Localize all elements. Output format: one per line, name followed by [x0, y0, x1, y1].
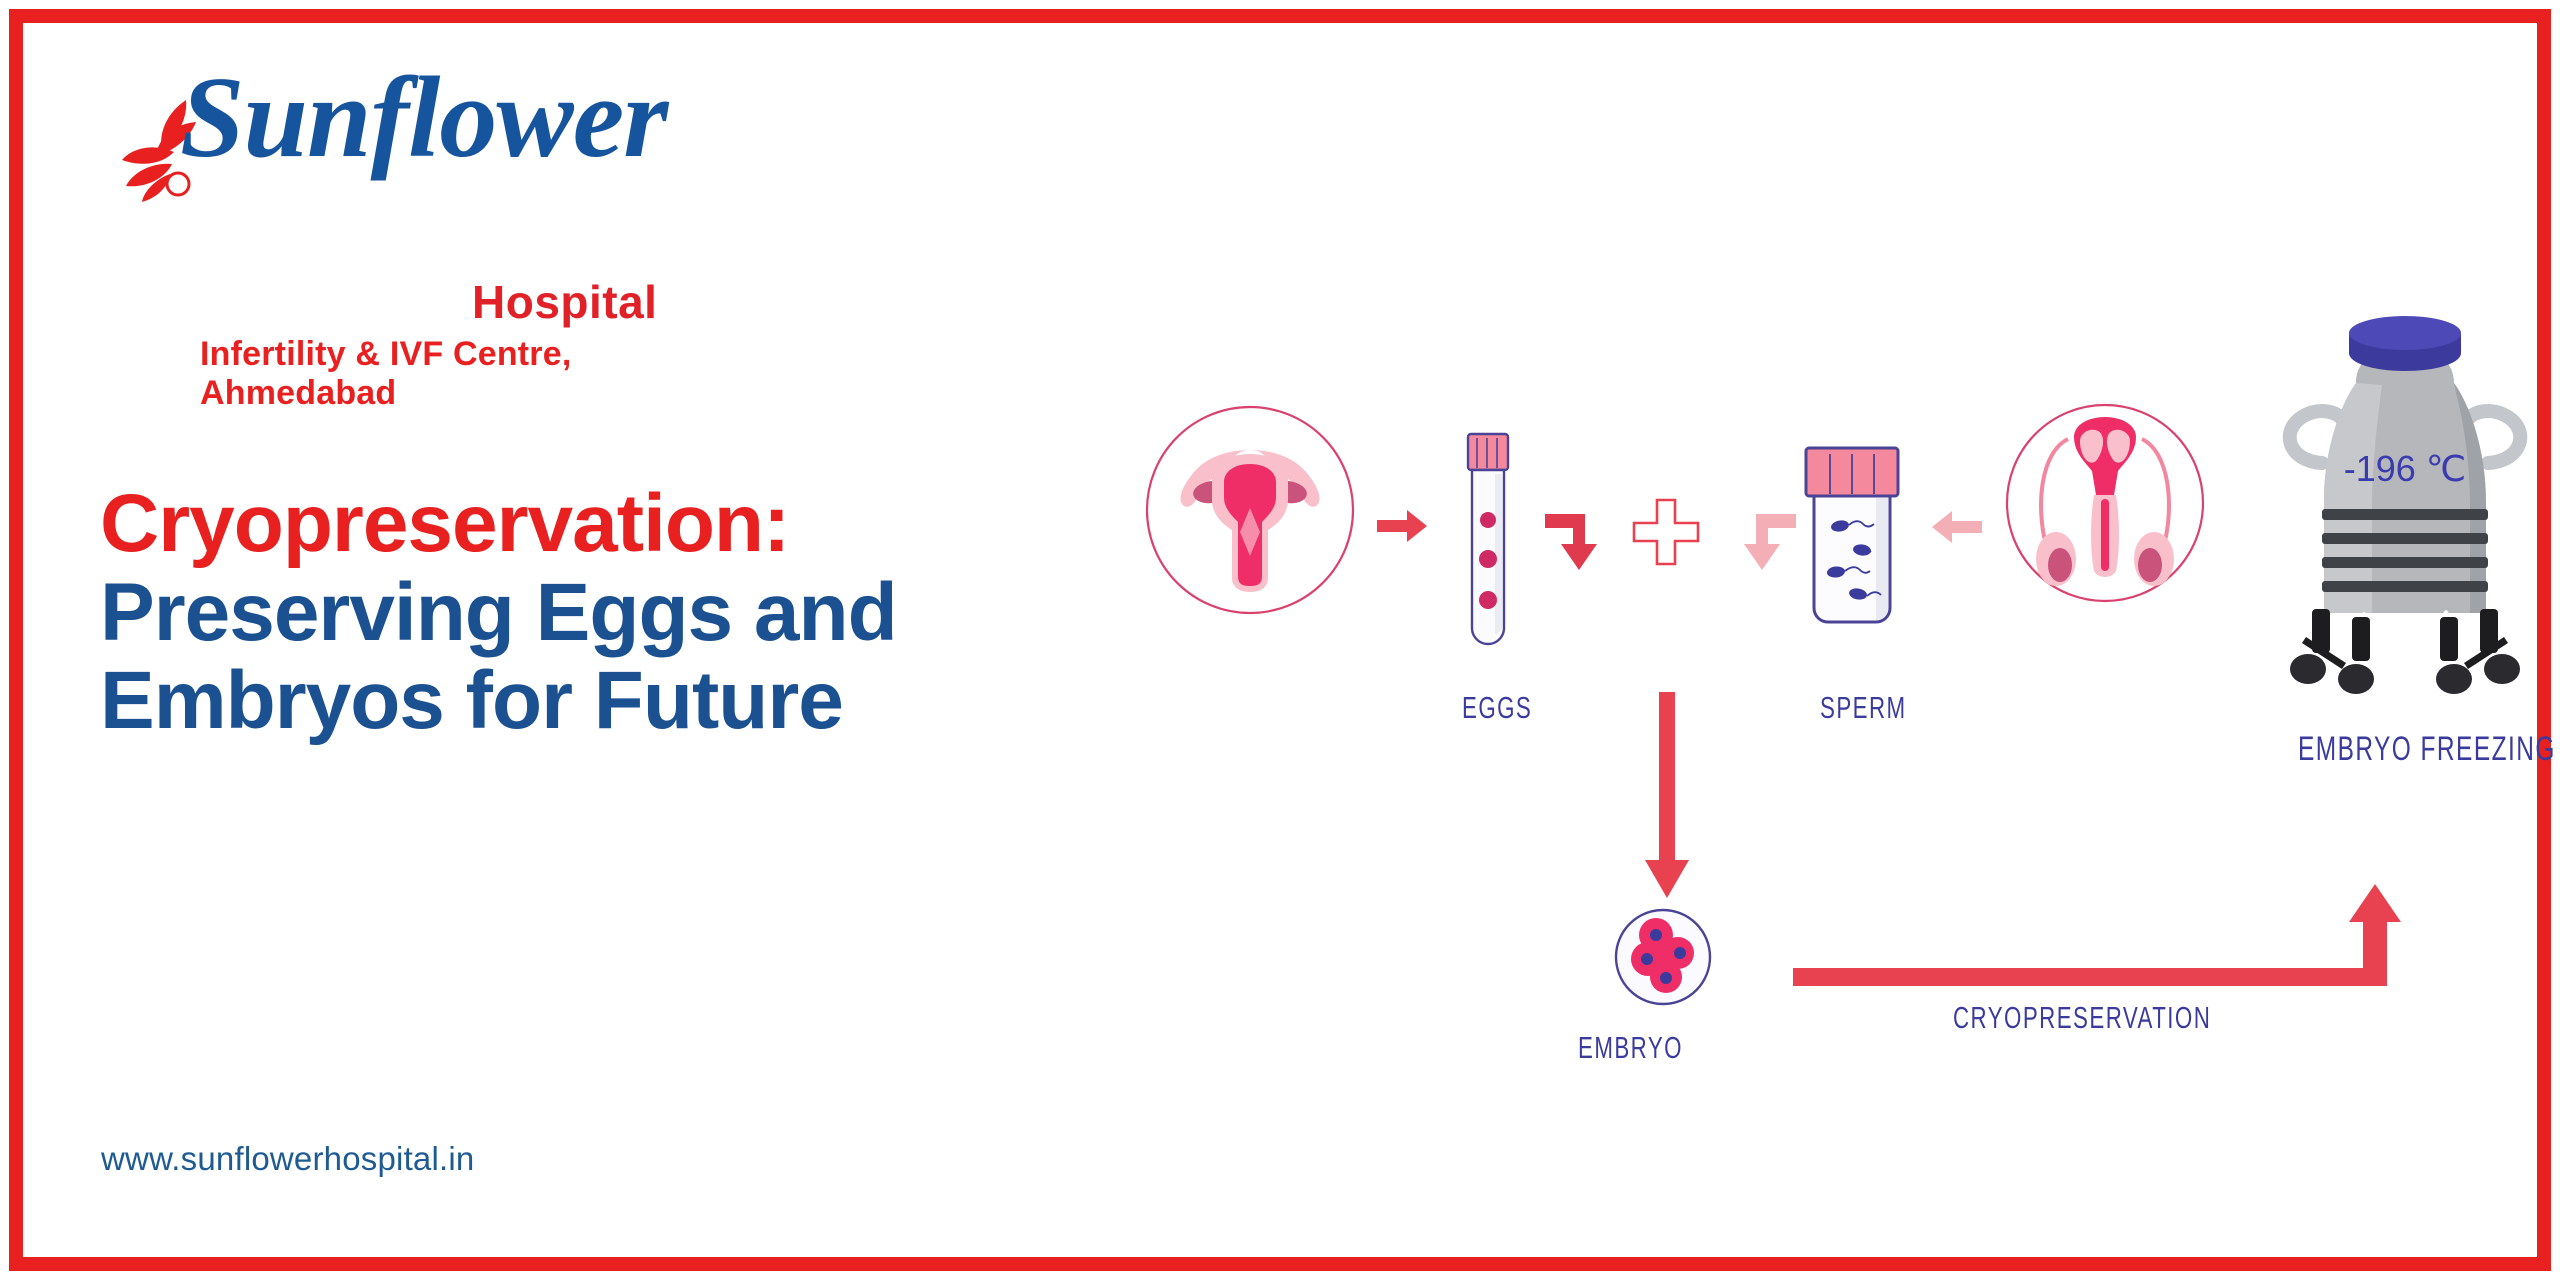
- arrow-elbow-down-red-icon: [1545, 500, 1621, 590]
- logo-subtitle: Hospital: [472, 275, 657, 329]
- arrow-cryopreservation-icon: [1793, 882, 2403, 1012]
- plus-icon: [1630, 496, 1702, 568]
- egg-test-tube-icon: [1448, 428, 1524, 668]
- logo-wordmark: Sunflower: [180, 60, 667, 176]
- title-line-1: Cryopreservation:: [100, 480, 1100, 569]
- eggs-label: EGGS: [1462, 690, 1532, 726]
- arrow-down-long-icon: [1643, 692, 1691, 900]
- border-bottom: [9, 1257, 2551, 1271]
- embryo-label: EMBRYO: [1578, 1030, 1683, 1066]
- page-title: Cryopreservation: Preserving Eggs and Em…: [100, 480, 1100, 746]
- website-url[interactable]: www.sunflowerhospital.in: [101, 1140, 474, 1178]
- tank-temperature-text: -196 ℃: [2344, 448, 2466, 489]
- female-reproductive-system-icon: [1120, 380, 1380, 640]
- title-line-2: Preserving Eggs and: [100, 569, 1100, 658]
- sperm-label: SPERM: [1820, 690, 1907, 726]
- title-line-3: Embryos for Future: [100, 657, 1100, 746]
- logo-tagline: Infertility & IVF Centre, Ahmedabad: [200, 335, 720, 413]
- brand-logo: Sunflower Hospital Infertility & IVF Cen…: [100, 60, 720, 240]
- cryogenic-tank-icon: -196 ℃: [2260, 265, 2550, 705]
- embryo-icon: [1598, 895, 1728, 1025]
- banner-root: Sunflower Hospital Infertility & IVF Cen…: [0, 0, 2560, 1280]
- arrow-elbow-down-pink-icon: [1720, 500, 1796, 590]
- cryopreservation-diagram: EGGS: [1130, 400, 2540, 1040]
- arrow-right-eggs-icon: [1377, 508, 1427, 544]
- border-top: [9, 9, 2551, 23]
- arrow-left-pink-icon: [1930, 510, 1982, 544]
- sperm-jar-icon: [1792, 440, 1912, 660]
- male-reproductive-system-icon: [1980, 375, 2230, 625]
- cryopreservation-label: CRYOPRESERVATION: [1953, 1000, 2211, 1036]
- embryo-freezing-label: EMBRYO FREEZING: [2298, 730, 2556, 769]
- border-left: [9, 9, 23, 1271]
